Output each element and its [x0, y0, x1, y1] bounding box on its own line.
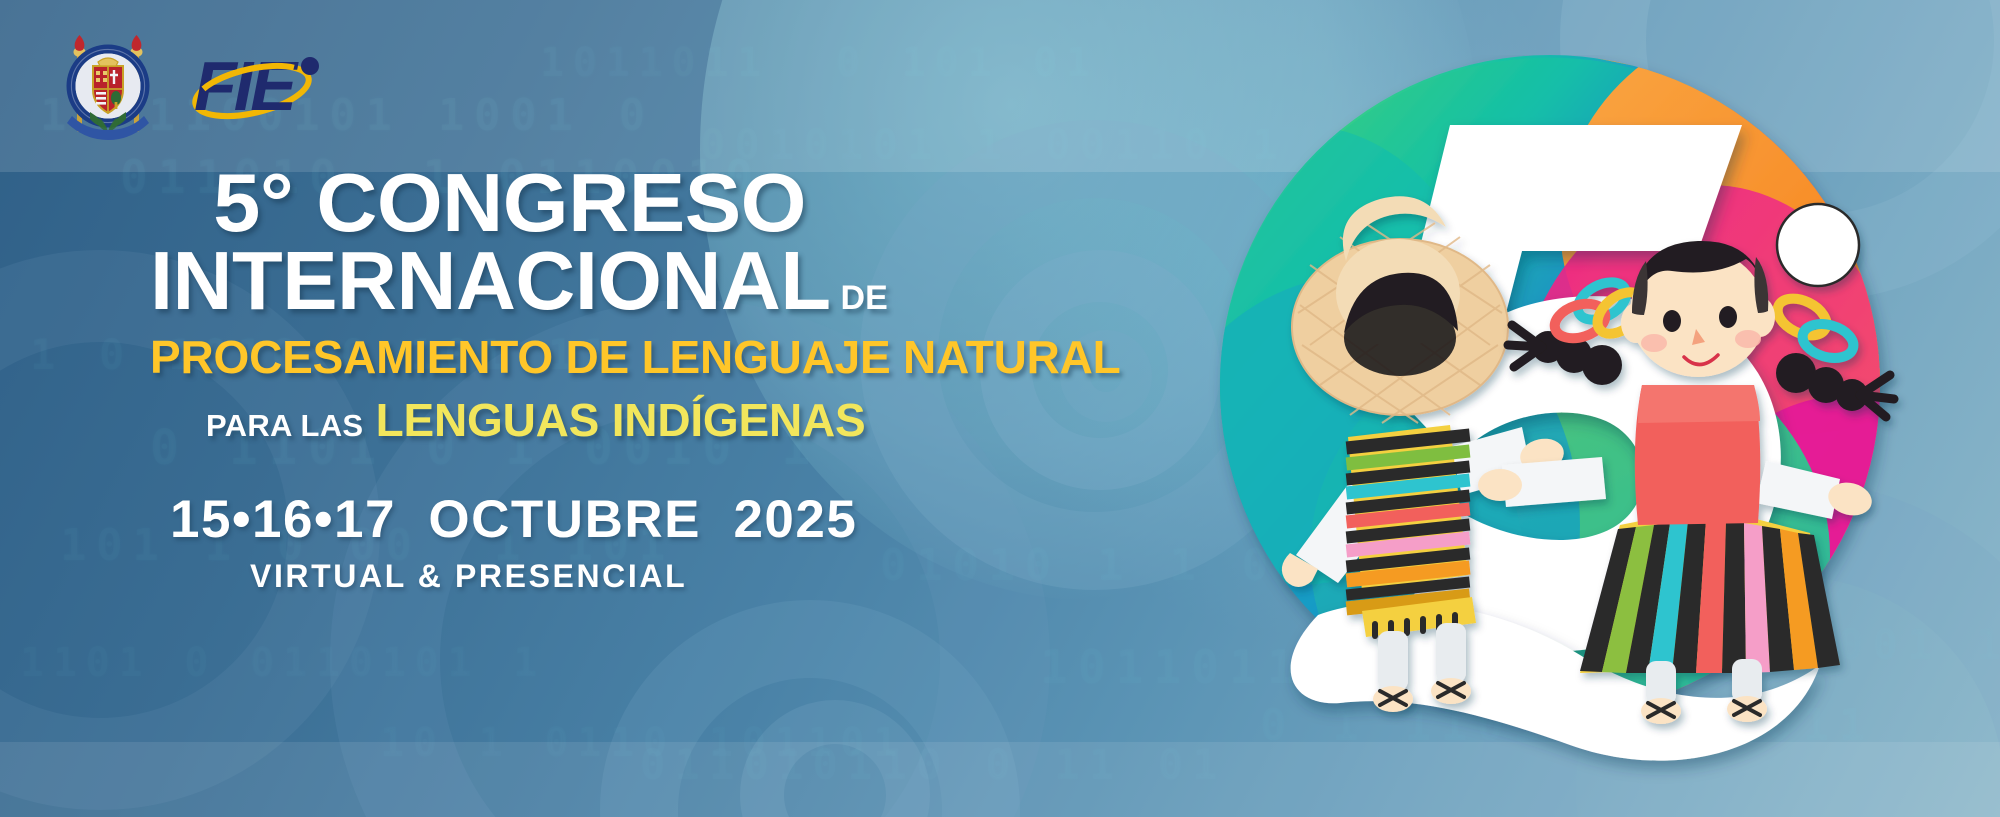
- word-congreso: CONGRESO: [316, 156, 806, 249]
- accent-dot-icon: [1777, 204, 1859, 286]
- event-month: OCTUBRE: [428, 490, 701, 549]
- anniversary-five-artwork: [1150, 55, 1950, 815]
- event-date-line: 15•16•17 OCTUBRE 2025: [150, 489, 1050, 550]
- subtitle-procesamiento: PROCESAMIENTO DE LENGUAJE NATURAL: [150, 330, 1050, 384]
- boy-poncho: [1346, 425, 1476, 639]
- degree-symbol: °: [260, 156, 293, 249]
- subtitle-lenguas-indigenas: LENGUAS INDÍGENAS: [376, 394, 866, 446]
- fie-logo-icon[interactable]: FIE: [190, 46, 325, 126]
- event-year: 2025: [733, 490, 857, 549]
- binary-row: 1101 0 0110101 1: [20, 640, 546, 686]
- girl-skirt: [1580, 507, 1840, 673]
- word-de: DE: [841, 283, 888, 314]
- ordinal-number: 5: [213, 156, 260, 249]
- logo-row: FIE: [60, 30, 325, 142]
- umsnh-seal-icon[interactable]: [60, 30, 156, 142]
- headline-block: 5° CONGRESO INTERNACIONAL DE PROCESAMIEN…: [150, 165, 1050, 595]
- title-line-congreso: 5° CONGRESO: [150, 165, 1068, 241]
- event-days: 15•16•17: [170, 490, 396, 549]
- title-line-internacional: INTERNACIONAL DE: [150, 243, 1050, 319]
- event-modality: VIRTUAL & PRESENCIAL: [150, 558, 1050, 595]
- conference-banner: 1 1100101 1001 0011010 1 01100101 0 1010…: [0, 0, 2000, 817]
- word-internacional: INTERNACIONAL: [150, 243, 831, 319]
- subtitle-lenguas-line: PARA LAS LENGUAS INDÍGENAS: [150, 393, 1050, 447]
- prefix-para-las: PARA LAS: [206, 408, 363, 443]
